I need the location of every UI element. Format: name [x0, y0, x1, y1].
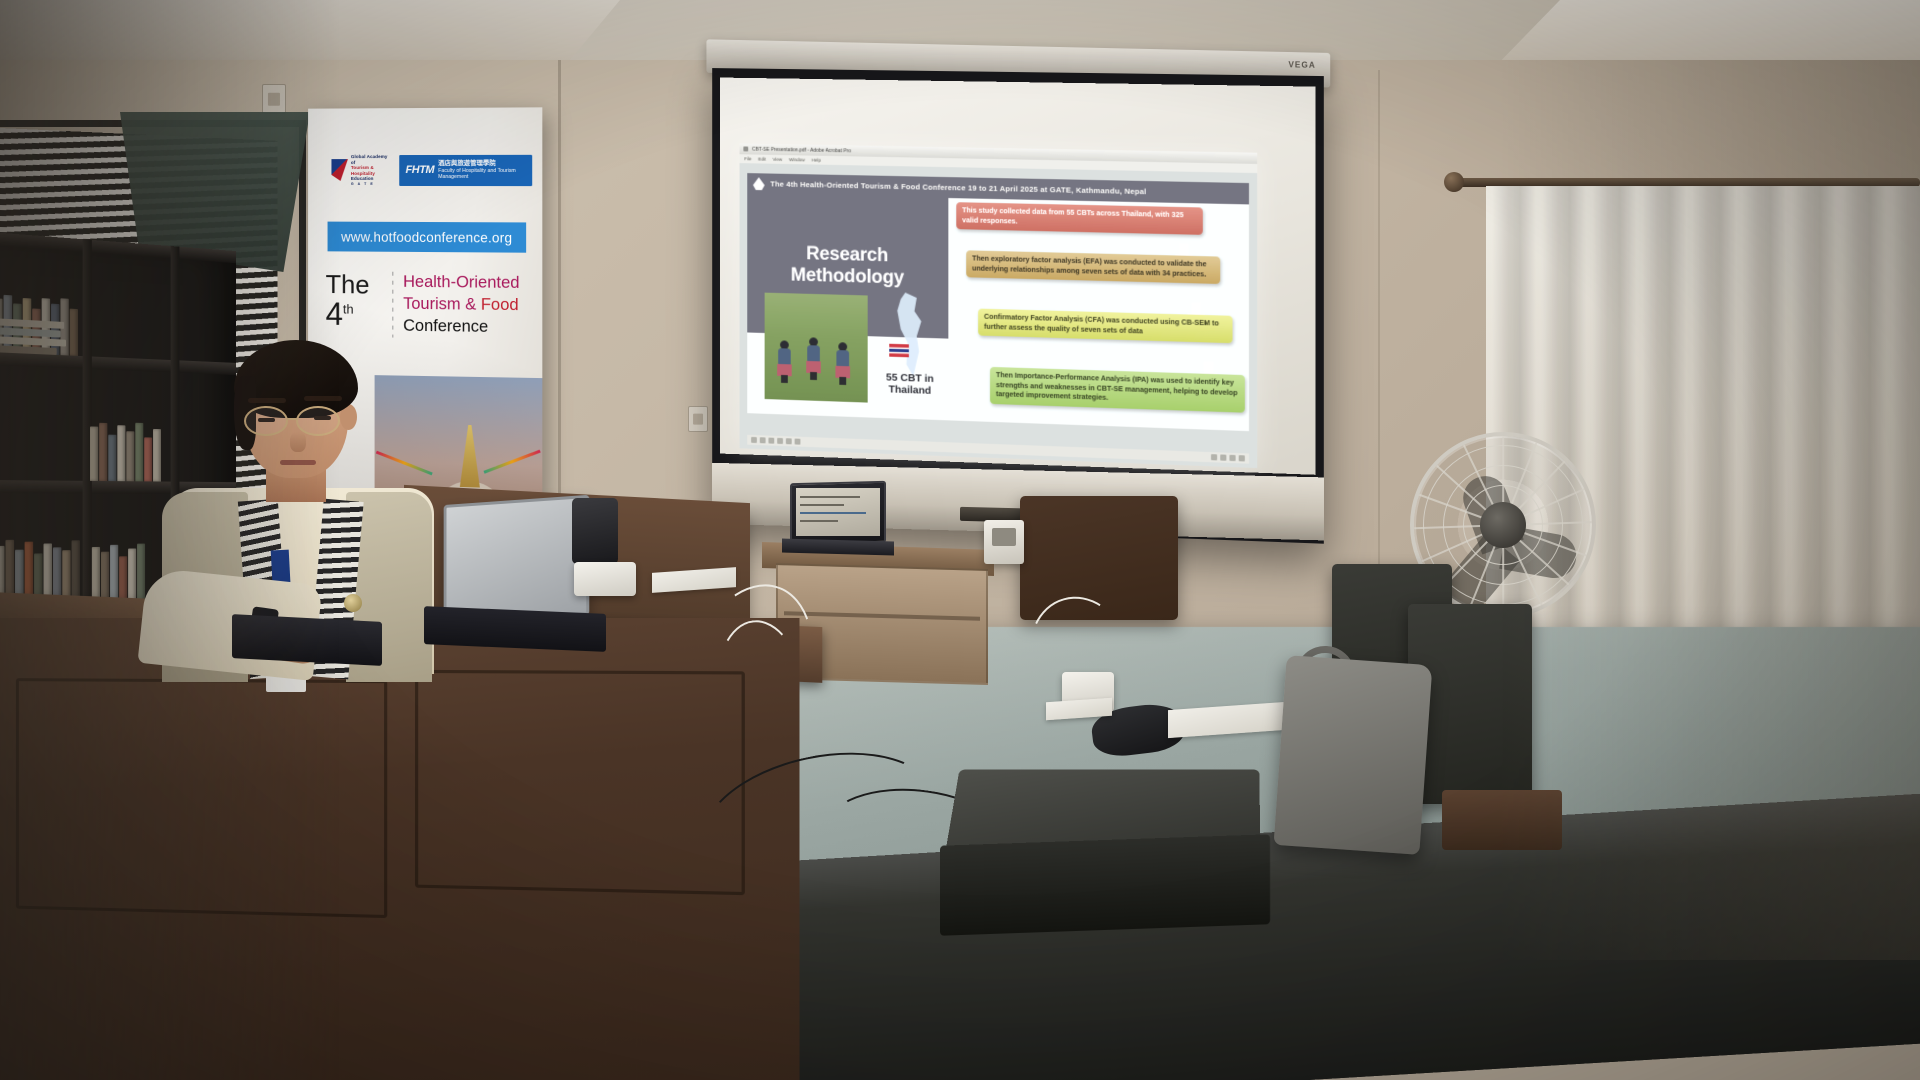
toolbar-icon[interactable]	[1239, 455, 1245, 461]
curtain-rod-finial	[1444, 172, 1464, 192]
slide-photo-caption: 55 CBT in Thailand	[872, 371, 949, 398]
toolbar-icon[interactable]	[777, 438, 783, 444]
flow-step-3: Confirmatory Factor Analysis (CFA) was c…	[978, 309, 1232, 344]
banner-title: The 4th Health-Oriented Tourism & Food C…	[326, 271, 531, 339]
slide-title-line1: Research	[791, 243, 904, 267]
flow-step-4: Then Importance-Performance Analysis (IP…	[990, 367, 1245, 412]
pdf-window-title: CBT-SE Presentation.pdf - Adobe Acrobat …	[752, 146, 851, 154]
toolbar-icon[interactable]	[1220, 454, 1226, 460]
menu-help[interactable]: Help	[812, 158, 821, 163]
left-shadow	[0, 0, 340, 1080]
thailand-flag-icon	[889, 344, 909, 358]
conference-logo-icon	[753, 177, 765, 190]
right-shadow	[1500, 60, 1920, 960]
fhtm-chinese-name: 酒店與旅遊管理學院	[438, 159, 526, 167]
menu-view[interactable]: View	[773, 157, 783, 162]
banner-url: www.hotfoodconference.org	[328, 222, 527, 253]
chair[interactable]	[1020, 496, 1178, 620]
side-table-laptop-screen	[796, 488, 880, 536]
flow-step-2: Then exploratory factor analysis (EFA) w…	[966, 250, 1220, 284]
banner-logos: Global Academy of Tourism & Hospitality …	[331, 148, 532, 192]
banner-divider	[392, 272, 393, 338]
gate-logo: Global Academy of Tourism & Hospitality …	[331, 154, 391, 186]
slide-header-text: The 4th Health-Oriented Tourism & Food C…	[770, 179, 1146, 196]
pdf-app-icon	[743, 146, 748, 151]
toolbar-icon[interactable]	[1211, 454, 1217, 460]
slide-field-photo	[765, 293, 868, 403]
caption-line2: Thailand	[872, 383, 949, 398]
power-adapter	[984, 520, 1024, 564]
conference-room-photo: Global Academy of Tourism & Hospitality …	[0, 0, 1920, 1080]
banner-title-line1: Health-Oriented	[403, 272, 519, 295]
projected-pdf-window: CBT-SE Presentation.pdf - Adobe Acrobat …	[740, 143, 1258, 468]
toolbar-icon[interactable]	[768, 438, 774, 444]
gate-acronym: G A T E	[351, 182, 392, 186]
backpack[interactable]	[1274, 655, 1433, 855]
screen-brand-label: VEGA	[1288, 60, 1315, 70]
banner-title-line2a: Tourism &	[403, 295, 481, 314]
toolbar-icon[interactable]	[1229, 455, 1235, 461]
banner-ordinal: th	[343, 302, 354, 317]
toolbar-icon[interactable]	[786, 438, 792, 444]
desk-speaker	[572, 498, 618, 564]
power-adapter	[574, 562, 636, 596]
fhtm-logo: FHTM 酒店與旅遊管理學院 Faculty of Hospitality an…	[400, 154, 533, 185]
wall-socket[interactable]	[688, 406, 708, 432]
menu-window[interactable]: Window	[789, 157, 805, 162]
toolbar-icon[interactable]	[795, 439, 801, 445]
presenter-laptop-base	[424, 606, 606, 652]
banner-title-line2b: Food	[481, 296, 519, 315]
presenter-lapel-pin	[344, 594, 362, 612]
side-table-laptop-base	[782, 539, 894, 556]
presenter-laptop[interactable]	[444, 495, 590, 621]
slide-title-line2: Methodology	[791, 264, 904, 288]
gate-line3: Education	[351, 176, 374, 181]
toolbar-icon[interactable]	[751, 437, 757, 443]
fhtm-faculty-name: Faculty of Hospitality and Tourism Manag…	[438, 167, 516, 180]
gate-line2: Tourism & Hospitality	[351, 165, 375, 176]
menu-edit[interactable]: Edit	[758, 157, 766, 162]
gate-line1: Global Academy of	[351, 154, 388, 165]
pdf-slide: The 4th Health-Oriented Tourism & Food C…	[747, 173, 1249, 431]
fhtm-wordmark: FHTM	[405, 164, 434, 176]
stupa-spire	[460, 425, 480, 488]
flow-step-1: This study collected data from 55 CBTs a…	[956, 202, 1203, 235]
menu-file[interactable]: File	[744, 156, 751, 161]
toolbar-icon[interactable]	[760, 437, 766, 443]
foreground-laptop-base	[940, 834, 1270, 936]
